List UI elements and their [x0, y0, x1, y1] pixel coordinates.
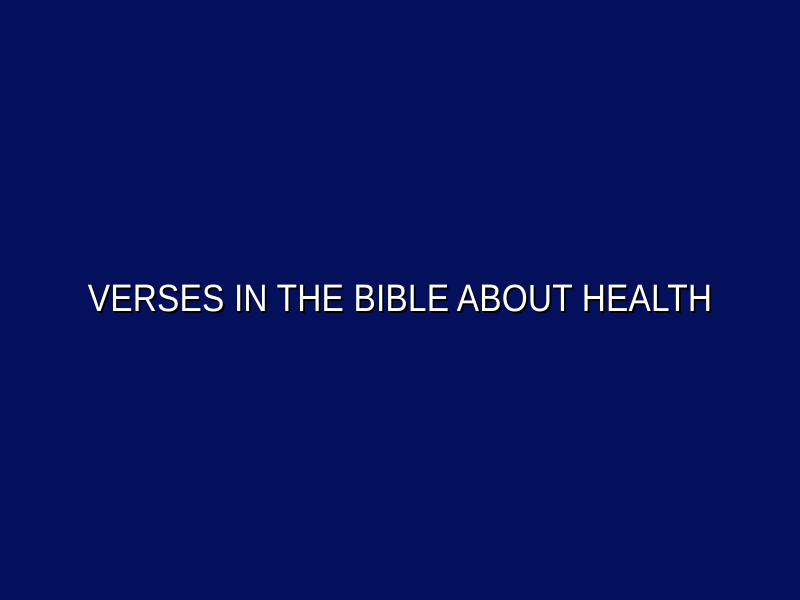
title-card: VERSES IN THE BIBLE ABOUT HEALTH — [0, 0, 800, 600]
page-title: VERSES IN THE BIBLE ABOUT HEALTH — [48, 279, 752, 321]
